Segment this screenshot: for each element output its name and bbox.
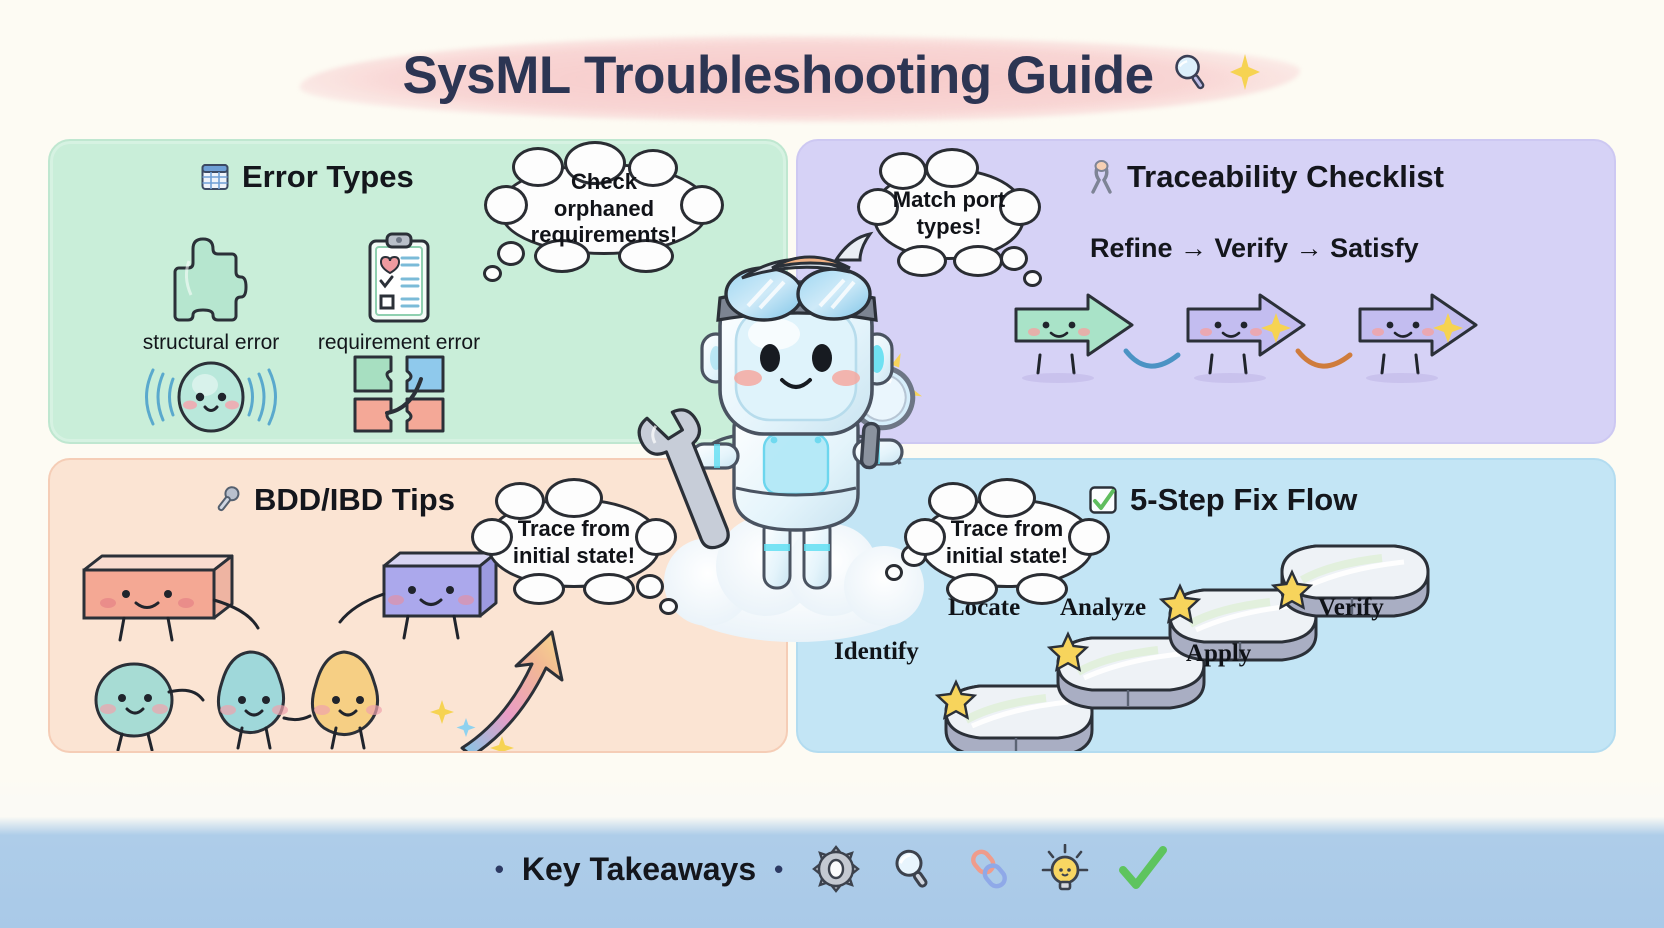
robot-head bbox=[702, 234, 892, 434]
bubble-text: Check orphaned requirements! bbox=[519, 169, 689, 249]
bullet-left: • bbox=[495, 854, 504, 885]
bubble-check-orphaned-requirements: Check orphaned requirements! bbox=[500, 163, 708, 255]
blob-pear-yellow bbox=[312, 652, 382, 748]
green-check-icon bbox=[1117, 844, 1169, 894]
panel-fix-flow-label: 5-Step Fix Flow bbox=[1130, 482, 1357, 518]
block-purple bbox=[340, 553, 496, 638]
blob-round-teal bbox=[96, 664, 203, 750]
check-box-icon bbox=[1088, 485, 1118, 515]
bubble-trace-from-initial-state-right: Trace from initial state! bbox=[920, 498, 1094, 588]
bubble-text: Trace from initial state! bbox=[939, 516, 1075, 570]
magnifying-glass-icon bbox=[1168, 49, 1214, 102]
footer-bar: • Key Takeaways • bbox=[0, 810, 1664, 928]
magnifying-glass-icon bbox=[889, 845, 937, 893]
step-label-verify: Verify bbox=[1318, 594, 1384, 622]
bubble-trace-from-initial-state-left: Trace from initial state! bbox=[487, 498, 661, 588]
page-title: SysML Troubleshooting Guide bbox=[402, 45, 1261, 106]
spreadsheet-window-icon bbox=[200, 162, 230, 192]
bubble-match-port-types: Match port types! bbox=[873, 168, 1025, 260]
panel-bdd-ibd-label: BDD/IBD Tips bbox=[254, 482, 455, 518]
block-peach bbox=[84, 556, 258, 640]
bubble-text: Trace from initial state! bbox=[506, 516, 642, 570]
error-item-requirement: requirement error bbox=[304, 229, 494, 355]
bubble-text: Match port types! bbox=[892, 187, 1006, 241]
sparkle-icon bbox=[1228, 52, 1262, 99]
blob-pear-teal bbox=[218, 652, 310, 748]
microphone-icon bbox=[212, 484, 242, 516]
link-chain-icon bbox=[965, 845, 1013, 893]
traceability-arrow-row bbox=[998, 277, 1498, 387]
footer-icon-row bbox=[811, 844, 1169, 894]
bullet-right: • bbox=[774, 854, 783, 885]
infographic-canvas: SysML Troubleshooting Guide bbox=[0, 0, 1664, 928]
panel-traceability-title: Traceability Checklist bbox=[1087, 159, 1444, 195]
puzzle-piece-icon bbox=[116, 229, 306, 325]
panel-error-types-title: Error Types bbox=[200, 159, 414, 195]
traceability-chain-text: Refine → Verify → Satisfy bbox=[1090, 233, 1419, 264]
error-item-label: interface error bbox=[304, 443, 494, 444]
gear-icon bbox=[811, 844, 861, 894]
error-item-structural: structural error bbox=[116, 229, 306, 355]
key-takeaways-label: Key Takeaways bbox=[522, 851, 756, 888]
panel-fix-flow-title: 5-Step Fix Flow bbox=[1088, 482, 1357, 518]
step-label-apply: Apply bbox=[1186, 640, 1251, 668]
vibrating-face-icon bbox=[116, 341, 306, 437]
step-label-analyze: Analyze bbox=[1060, 594, 1146, 622]
key-takeaways-row: • Key Takeaways • bbox=[495, 844, 1169, 894]
error-item-behavioral: behavioral error bbox=[116, 341, 306, 444]
rainbow-arrow-icon bbox=[430, 632, 562, 752]
lightbulb-icon bbox=[1041, 844, 1089, 894]
error-item-label: behavioral error bbox=[116, 443, 306, 444]
panel-bdd-ibd-title: BDD/IBD Tips bbox=[212, 482, 455, 518]
panel-error-types-label: Error Types bbox=[242, 159, 414, 195]
page-header: SysML Troubleshooting Guide bbox=[0, 20, 1664, 130]
panel-traceability-label: Traceability Checklist bbox=[1127, 159, 1444, 195]
page-title-label: SysML Troubleshooting Guide bbox=[402, 45, 1153, 106]
clipboard-checklist-icon bbox=[304, 229, 494, 325]
error-item-interface: interface error bbox=[304, 341, 494, 444]
connected-puzzle-icon bbox=[304, 341, 494, 437]
reminder-ribbon-icon bbox=[1087, 160, 1115, 194]
